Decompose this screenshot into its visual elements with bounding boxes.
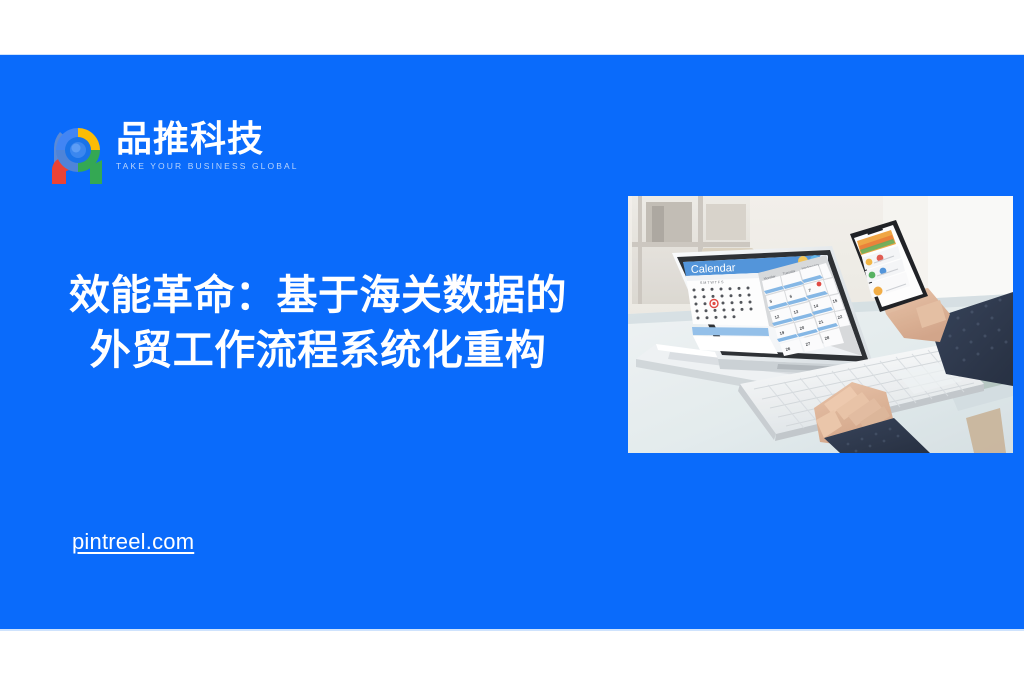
hero-photo-illustration: Calendar S M T W T F S <box>628 196 1013 453</box>
slide-root: 品推科技 TAKE YOUR BUSINESS GLOBAL 效能革命：基于海关… <box>0 0 1024 683</box>
logo-tagline: TAKE YOUR BUSINESS GLOBAL <box>116 161 299 171</box>
hero-photo: Calendar S M T W T F S <box>628 196 1013 453</box>
bottom-seam-divider <box>0 629 1024 631</box>
page-title-line-2: 外贸工作流程系统化重构 <box>18 323 618 378</box>
logo-wordmark: 品推科技 <box>116 122 299 159</box>
logo-text-block: 品推科技 TAKE YOUR BUSINESS GLOBAL <box>116 118 299 171</box>
pintreel-logo-mark <box>50 118 108 184</box>
page-title-line-1: 效能革命：基于海关数据的 <box>18 268 618 323</box>
blue-canvas: 品推科技 TAKE YOUR BUSINESS GLOBAL 效能革命：基于海关… <box>0 55 1024 630</box>
brand-logo-lockup[interactable]: 品推科技 TAKE YOUR BUSINESS GLOBAL <box>50 118 299 188</box>
page-title: 效能革命：基于海关数据的 外贸工作流程系统化重构 <box>18 268 618 378</box>
site-url-link[interactable]: pintreel.com <box>72 529 194 555</box>
